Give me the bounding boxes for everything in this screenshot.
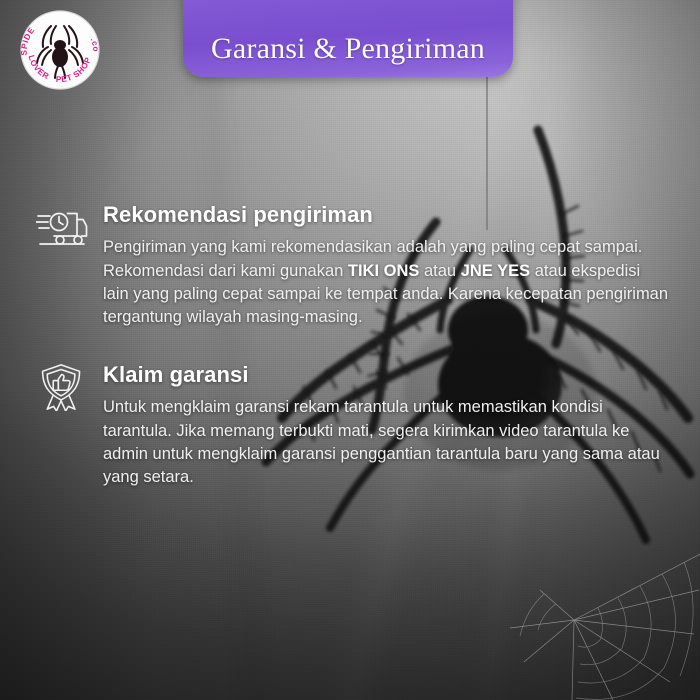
fast-delivery-truck-icon xyxy=(36,203,88,251)
page-title: Garansi & Pengiriman xyxy=(211,32,485,66)
section-shipping-heading: Rekomendasi pengiriman xyxy=(103,203,676,227)
header-banner: Garansi & Pengiriman xyxy=(183,0,513,77)
spider-web-corner xyxy=(494,542,700,700)
brand-logo[interactable]: LOVER PET SHOP SPIDER .com xyxy=(18,8,102,92)
section-warranty-body: Untuk mengklaim garansi rekam tarantula … xyxy=(103,396,670,490)
section-warranty-heading: Klaim garansi xyxy=(103,363,676,387)
section-shipping: Rekomendasi pengiriman Pengiriman yang k… xyxy=(36,203,676,330)
shield-thumbs-up-badge-icon xyxy=(36,363,88,411)
section-shipping-body: Pengiriman yang kami rekomendasikan adal… xyxy=(103,236,670,330)
section-warranty: Klaim garansi Untuk mengklaim garansi re… xyxy=(36,363,676,490)
poster-canvas: Garansi & Pengiriman LOVER PET SHOP xyxy=(0,0,700,700)
